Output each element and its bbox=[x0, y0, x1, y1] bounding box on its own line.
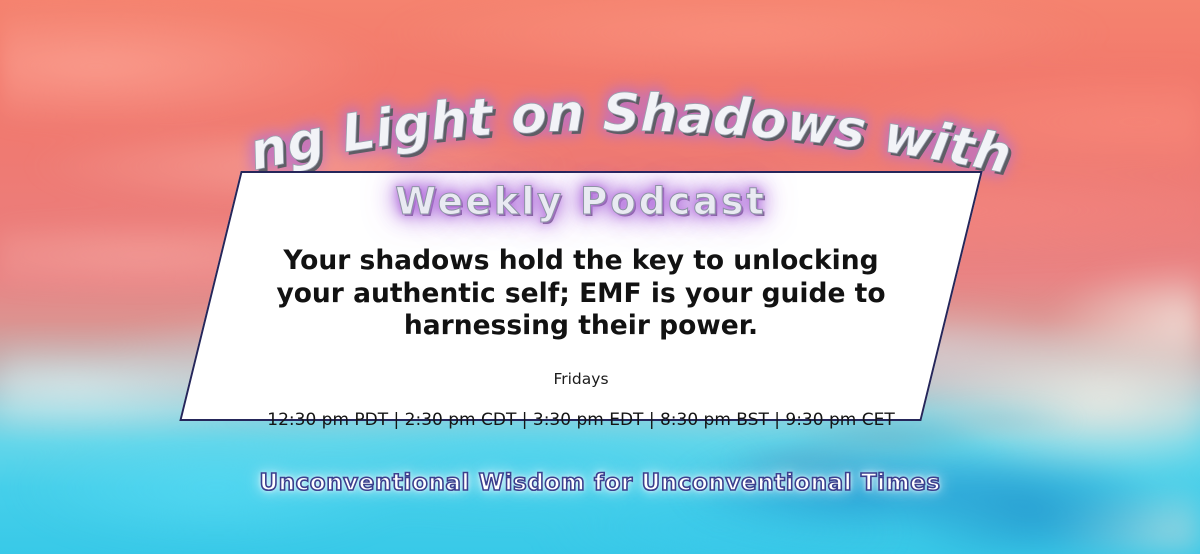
schedule-day: Fridays bbox=[553, 370, 608, 388]
card-tagline: Your shadows hold the key to unlocking y… bbox=[251, 245, 911, 343]
schedule-times: 12:30 pm PDT | 2:30 pm CDT | 3:30 pm EDT… bbox=[267, 410, 894, 430]
headline-arch: Shining Light on Shadows with EMF Shinin… bbox=[0, 62, 1200, 177]
headline-text: Shining Light on Shadows with EMF bbox=[0, 15, 1016, 186]
bottom-tagline: Unconventional Wisdom for Unconventional… bbox=[0, 470, 1200, 496]
card-subtitle: Weekly Podcast bbox=[395, 180, 767, 223]
podcast-promo-poster: Shining Light on Shadows with EMF Shinin… bbox=[0, 0, 1200, 554]
info-card-content: Weekly Podcast Your shadows hold the key… bbox=[210, 171, 952, 421]
headline-arch-svg: Shining Light on Shadows with EMF Shinin… bbox=[0, 62, 1200, 177]
